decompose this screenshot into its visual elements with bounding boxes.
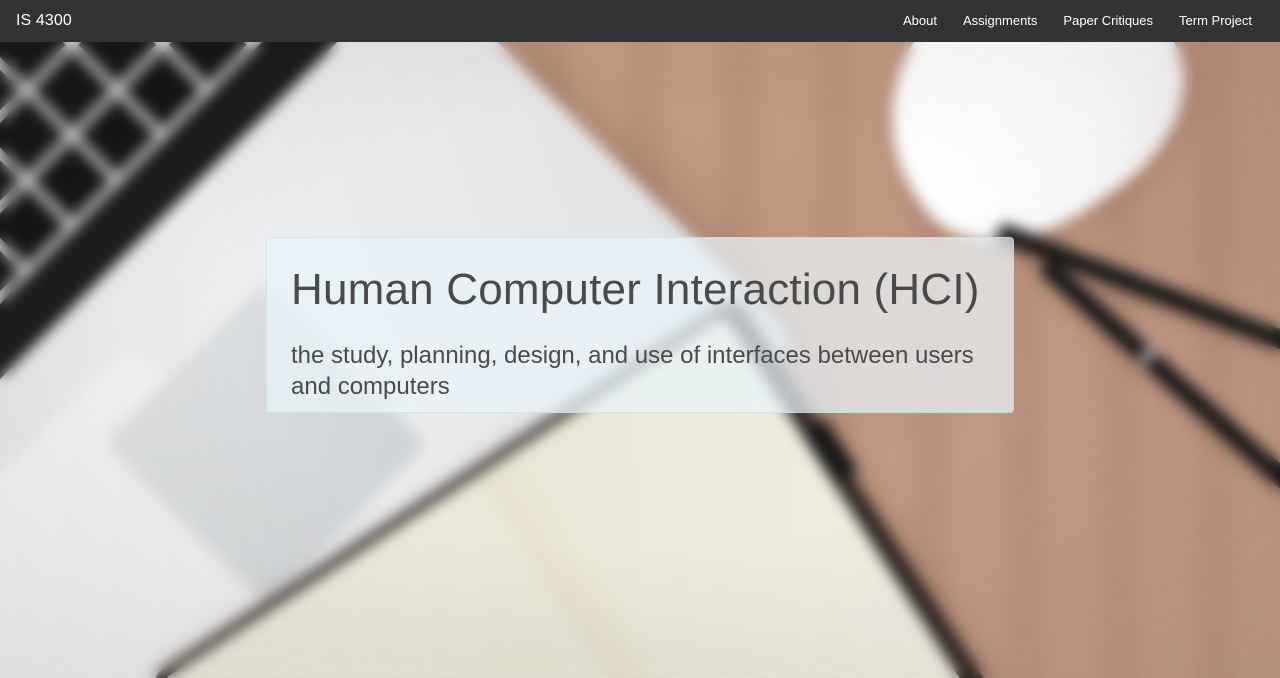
site-brand-link[interactable]: IS 4300 (0, 0, 72, 42)
hero-title: Human Computer Interaction (HCI) (291, 264, 989, 316)
hero-subtitle: the study, planning, design, and use of … (291, 340, 981, 402)
nav-link-term-project[interactable]: Term Project (1166, 0, 1265, 42)
hero-text-card: Human Computer Interaction (HCI) the stu… (266, 237, 1014, 413)
nav-link-paper-critiques[interactable]: Paper Critiques (1050, 0, 1166, 42)
nav-links-group: About Assignments Paper Critiques Term P… (890, 0, 1280, 42)
nav-link-assignments[interactable]: Assignments (950, 0, 1050, 42)
nav-link-about[interactable]: About (890, 0, 950, 42)
top-navigation-bar: IS 4300 About Assignments Paper Critique… (0, 0, 1280, 42)
hero-section: Human Computer Interaction (HCI) the stu… (0, 42, 1280, 678)
